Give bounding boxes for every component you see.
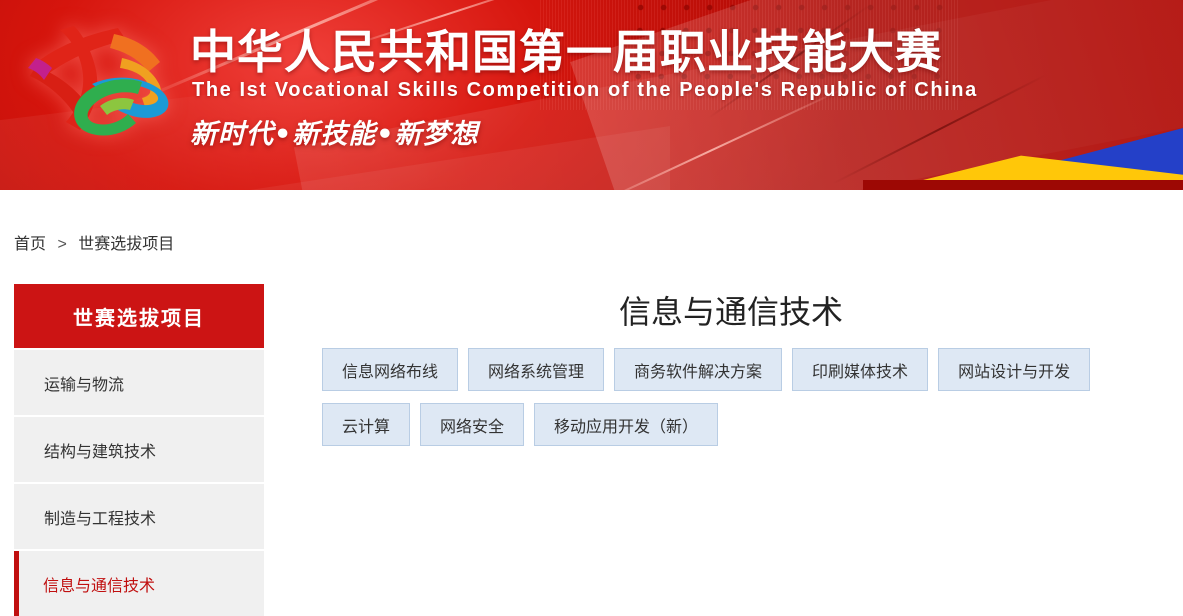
sidebar-item-label: 结构与建筑技术 bbox=[44, 438, 156, 462]
breadcrumb-home-link[interactable]: 首页 bbox=[14, 236, 46, 253]
breadcrumb-current: 世赛选拔项目 bbox=[78, 236, 174, 253]
sidebar-item[interactable]: 结构与建筑技术 bbox=[14, 417, 264, 482]
sidebar-item-label: 信息与通信技术 bbox=[43, 572, 155, 596]
skill-tag[interactable]: 网络系统管理 bbox=[468, 348, 604, 391]
breadcrumb: 首页 > 世赛选拔项目 bbox=[14, 230, 174, 254]
skill-tag[interactable]: 云计算 bbox=[322, 403, 410, 446]
sidebar: 世赛选拔项目 运输与物流结构与建筑技术制造与工程技术信息与通信技术 bbox=[14, 284, 264, 616]
sidebar-item[interactable]: 运输与物流 bbox=[14, 350, 264, 415]
sidebar-item[interactable]: 制造与工程技术 bbox=[14, 484, 264, 549]
skill-tag[interactable]: 网络安全 bbox=[420, 403, 524, 446]
banner-title-english: The Ist Vocational Skills Competition of… bbox=[192, 78, 978, 102]
page-title: 信息与通信技术 bbox=[292, 284, 1170, 334]
banner-title-chinese: 中华人民共和国第一届职业技能大赛 bbox=[190, 26, 942, 78]
skill-tag[interactable]: 印刷媒体技术 bbox=[792, 348, 928, 391]
skill-tag-list: 信息网络布线网络系统管理商务软件解决方案印刷媒体技术网站设计与开发云计算网络安全… bbox=[292, 334, 1170, 446]
main-content: 信息与通信技术 信息网络布线网络系统管理商务软件解决方案印刷媒体技术网站设计与开… bbox=[292, 284, 1170, 446]
sidebar-item[interactable]: 信息与通信技术 bbox=[14, 551, 264, 616]
sidebar-item-label: 运输与物流 bbox=[44, 371, 124, 395]
skill-tag[interactable]: 移动应用开发（新） bbox=[534, 403, 718, 446]
skill-tag[interactable]: 网站设计与开发 bbox=[938, 348, 1090, 391]
breadcrumb-separator: > bbox=[57, 236, 66, 253]
skill-tag[interactable]: 商务软件解决方案 bbox=[614, 348, 782, 391]
banner-slogan: 新时代•新技能•新梦想 bbox=[190, 118, 479, 152]
site-banner: 中华人民共和国第一届职业技能大赛 The Ist Vocational Skil… bbox=[0, 0, 1183, 190]
competition-emblem-icon[interactable] bbox=[22, 14, 180, 138]
sidebar-item-label: 制造与工程技术 bbox=[44, 505, 156, 529]
sidebar-heading: 世赛选拔项目 bbox=[14, 284, 264, 348]
banner-darkred-strip bbox=[863, 180, 1183, 190]
skill-tag[interactable]: 信息网络布线 bbox=[322, 348, 458, 391]
